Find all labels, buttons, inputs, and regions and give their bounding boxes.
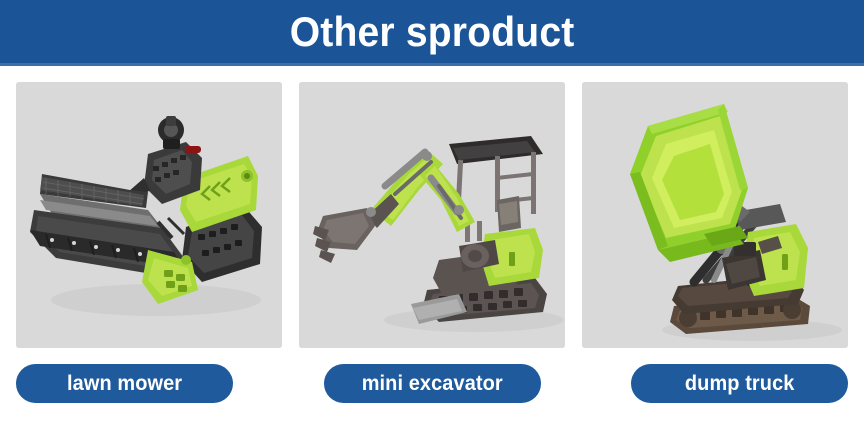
product-button-label: mini excavator bbox=[361, 372, 502, 396]
tracked-lawn-mower-photo bbox=[16, 82, 282, 348]
product-cards-row bbox=[16, 82, 848, 348]
product-buttons-row: lawn mower mini excavator dump truck bbox=[16, 364, 848, 404]
page-title: Other sproduct bbox=[290, 10, 575, 54]
section-header-banner: Other sproduct bbox=[0, 0, 864, 63]
tracked-dump-truck-photo bbox=[582, 82, 848, 348]
product-button-lawn-mower[interactable]: lawn mower bbox=[16, 364, 233, 403]
mini-excavator-photo bbox=[299, 82, 565, 348]
product-button-label: dump truck bbox=[685, 372, 795, 396]
product-button-dump-truck[interactable]: dump truck bbox=[631, 364, 848, 403]
other-products-section: Other sproduct bbox=[0, 0, 864, 443]
product-card-dump-truck[interactable] bbox=[582, 82, 848, 348]
product-button-mini-excavator[interactable]: mini excavator bbox=[324, 364, 541, 403]
product-card-mini-excavator[interactable] bbox=[299, 82, 565, 348]
banner-underline bbox=[0, 63, 864, 66]
product-card-lawn-mower[interactable] bbox=[16, 82, 282, 348]
product-button-label: lawn mower bbox=[67, 372, 182, 396]
